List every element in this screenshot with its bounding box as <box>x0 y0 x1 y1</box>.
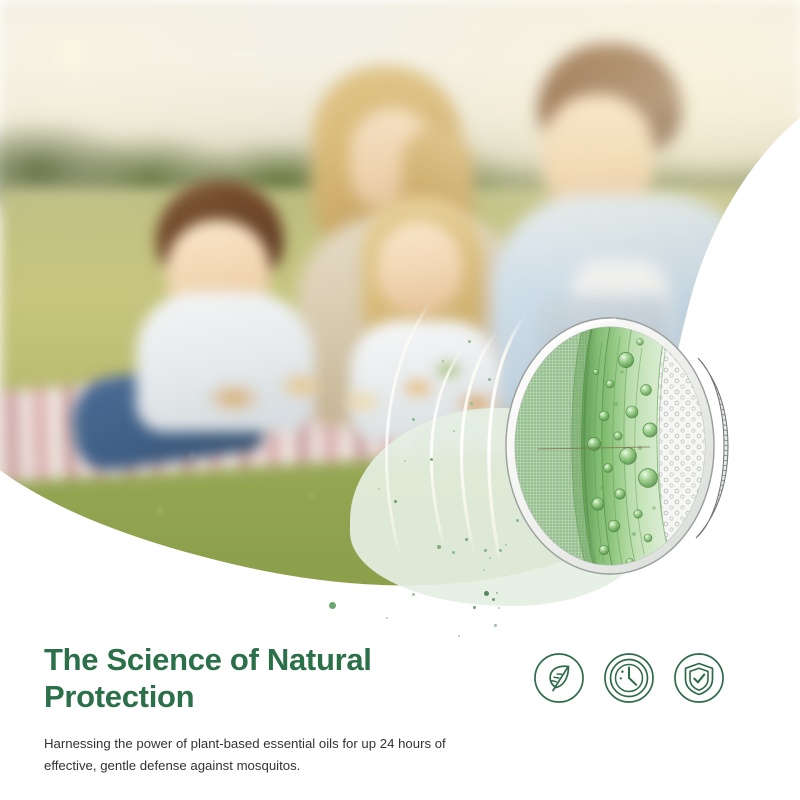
page-title: The Science of NaturalProtection <box>44 642 474 715</box>
headline-line-2: Protection <box>44 679 194 714</box>
leaf-icon[interactable] <box>533 652 585 704</box>
shield-check-icon[interactable] <box>673 652 725 704</box>
feature-icon-row <box>533 652 725 704</box>
headline-line-1: The Science of Natural <box>44 642 372 677</box>
photo-bokeh-flare <box>46 26 98 78</box>
subheadline: Harnessing the power of plant-based esse… <box>44 733 464 776</box>
clock-icon[interactable] <box>603 652 655 704</box>
product-disc-cutaway <box>498 312 736 580</box>
text-block: The Science of NaturalProtection Harness… <box>44 642 474 776</box>
poster-canvas: The Science of NaturalProtection Harness… <box>0 0 800 800</box>
girl-face <box>378 222 462 314</box>
